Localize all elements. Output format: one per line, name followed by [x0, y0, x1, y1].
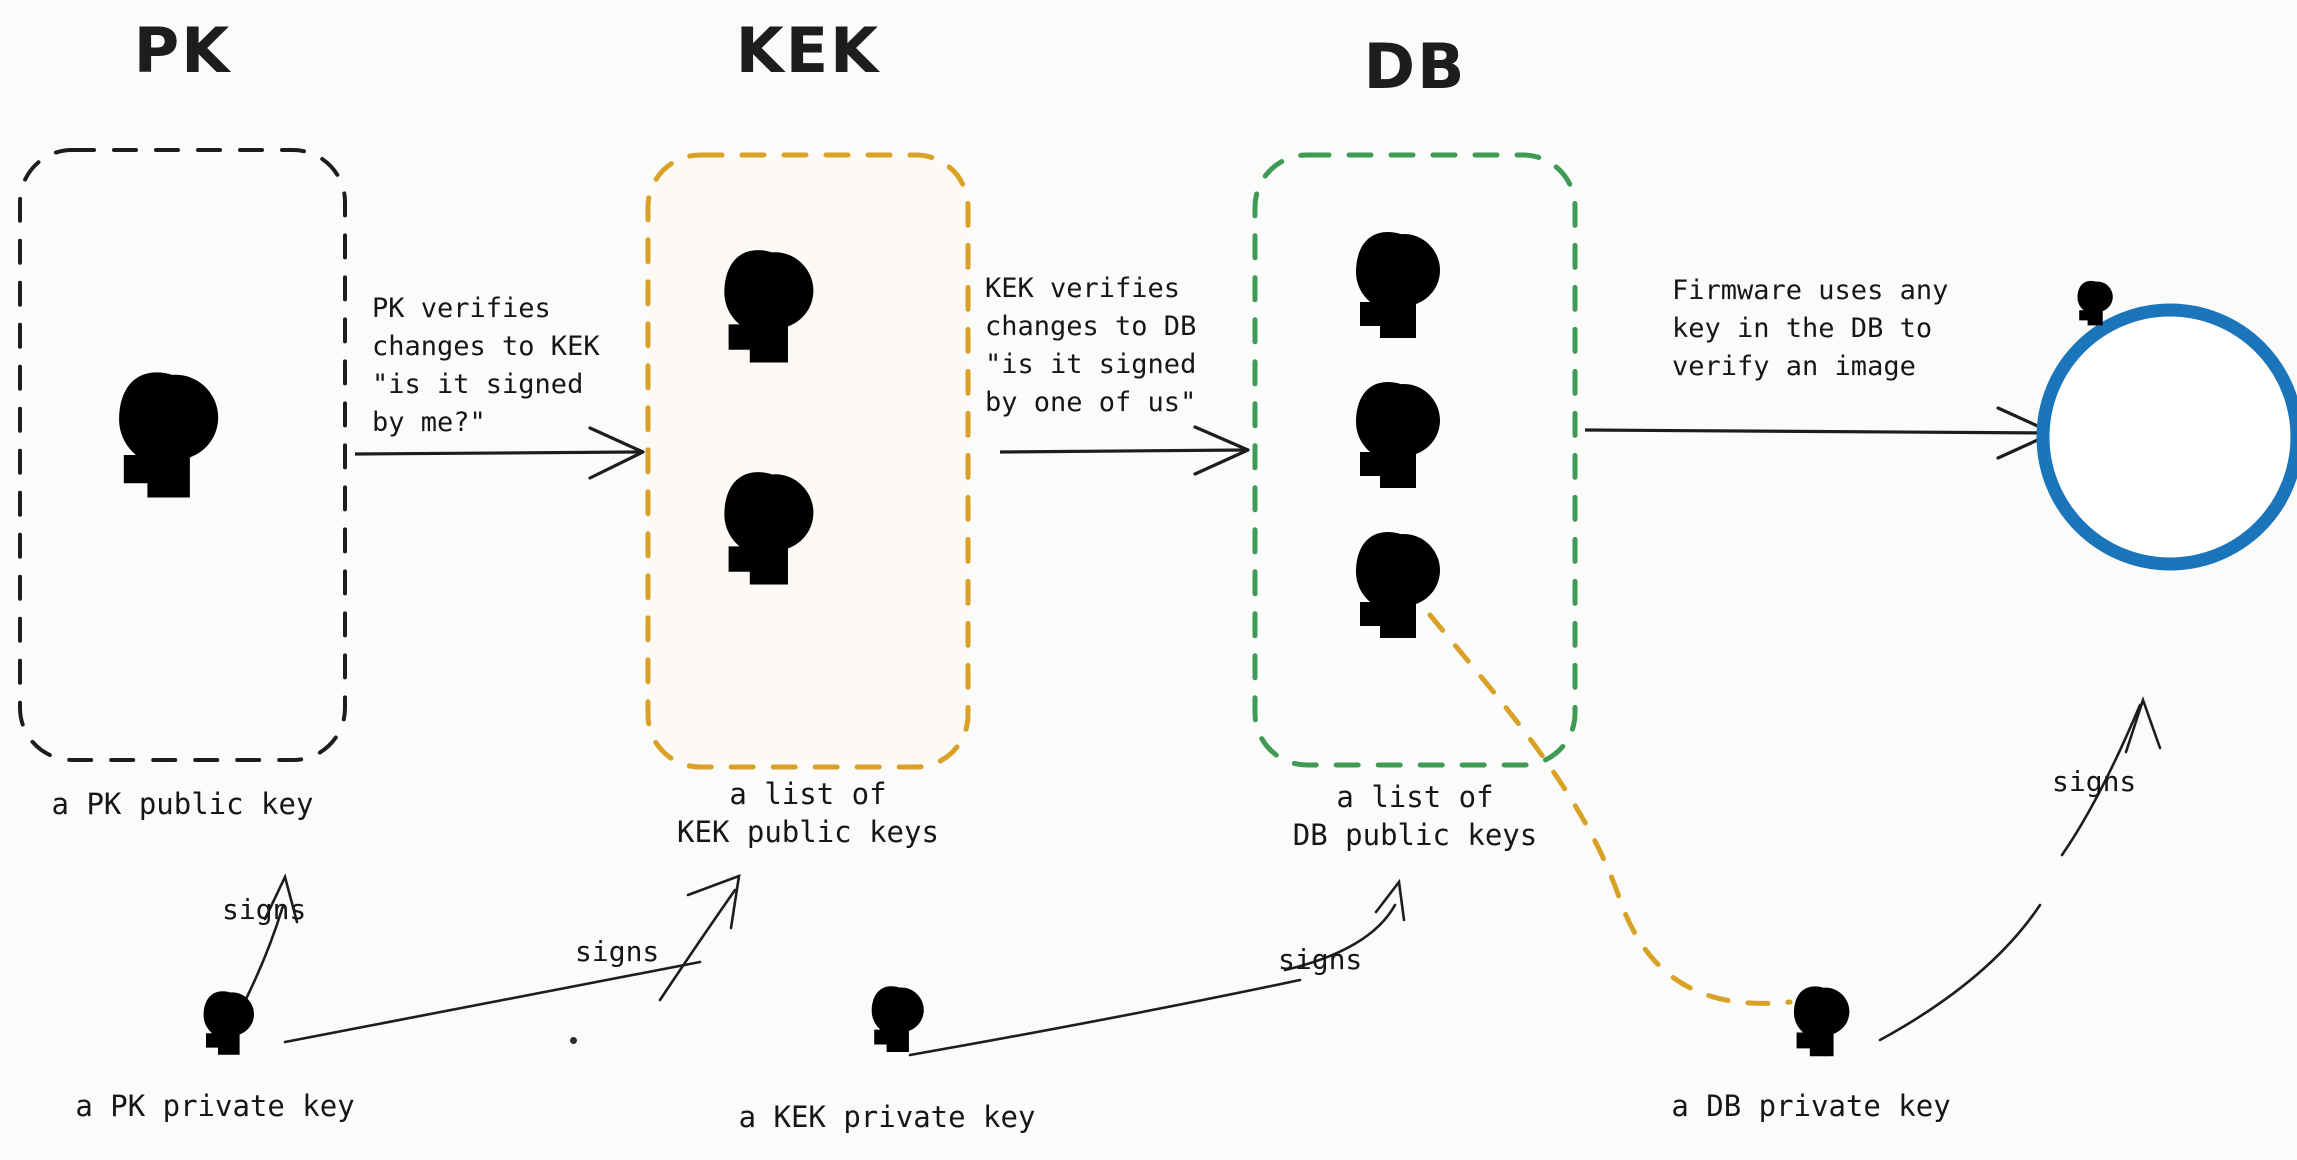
group-title-db: DB [1255, 30, 1575, 103]
caption-pk-public: a PK public key [20, 785, 345, 823]
stray-dot [570, 1037, 577, 1044]
key-db-private [1794, 986, 1849, 1056]
label-signs-db: signs [1278, 943, 1362, 976]
caption-db-private: a DB private key [1636, 1087, 1986, 1125]
note-kek-verifies: KEK verifies changes to DB "is it signed… [985, 270, 1196, 422]
arrow-kek-to-db [1000, 427, 1248, 474]
caption-kek-public: a list of KEK public keys [648, 775, 968, 851]
key-firmware-badge [2078, 281, 2113, 326]
label-signs-pk: signs [222, 893, 306, 926]
diagram-vector-layer: [data-name="key-pk-public-1"] .key-front… [0, 0, 2297, 1160]
firmware-image-circle [2043, 310, 2297, 564]
label-signs-kek: signs [575, 935, 659, 968]
key-pk-private [204, 991, 254, 1055]
group-title-kek: KEK [648, 14, 968, 87]
group-title-pk: PK [20, 14, 345, 87]
note-pk-verifies: PK verifies changes to KEK "is it signed… [372, 290, 600, 442]
arrow-signs-kek [285, 876, 739, 1042]
note-firmware: Firmware uses any key in the DB to verif… [1672, 272, 1948, 386]
caption-pk-private: a PK private key [50, 1087, 380, 1125]
caption-kek-private: a KEK private key [712, 1098, 1062, 1136]
arrow-signs-image [1880, 700, 2160, 1040]
label-signs-image: signs [2052, 765, 2136, 798]
group-box-kek [648, 155, 968, 767]
diagram-canvas: [data-name="key-pk-public-1"] .key-front… [0, 0, 2297, 1160]
key-kek-private [872, 986, 924, 1052]
caption-db-public: a list of DB public keys [1255, 778, 1575, 854]
arrow-db-to-firmware [1585, 408, 2053, 458]
